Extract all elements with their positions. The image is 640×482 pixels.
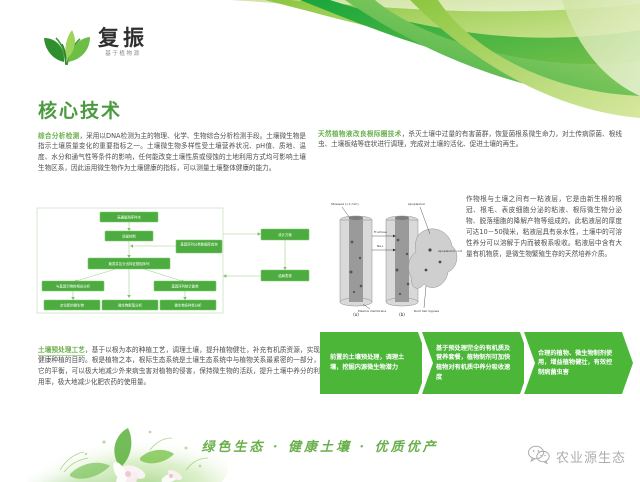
pretreatment-section: 土壤预处理工艺，基于以根为本的种植工艺，调理土壤，提升植物健壮，补充有机质资源，… bbox=[38, 338, 320, 394]
root-label-1: Apoplasmic bbox=[408, 202, 426, 206]
analysis-lead: 综合分析检测 bbox=[38, 132, 80, 140]
brand-wordmark: 复振 基于植物源 bbox=[98, 28, 148, 58]
root-label-3: Na+ bbox=[377, 244, 384, 248]
pretreatment-lead: 土壤预处理工艺 bbox=[38, 346, 85, 356]
wechat-icon bbox=[528, 445, 550, 468]
chevron-step-3: 合理的植物、微生物制剂使用，增益植物健壮，有效控制病菌虫害 bbox=[524, 332, 622, 394]
rhizosphere-lead: 天然植物液改良根际圈技术 bbox=[318, 130, 402, 138]
decorative-swirl-graphic bbox=[170, 0, 640, 120]
root-label-5: Plasma membrane bbox=[358, 309, 386, 313]
chevron-step-2: 基于预处理完全的有机质及营养套餐，植物制剂可加快植物对有机质中养分吸收速度 bbox=[422, 332, 520, 394]
analysis-flowchart: .bx{fill:#4dac3f;stroke:#7ec86a;stroke-w… bbox=[36, 196, 318, 314]
brand-name: 复振 bbox=[98, 28, 148, 49]
chevron-step-1-label: 前置的土壤预处理，调理土壤，挖掘内源微生物潜力 bbox=[320, 353, 418, 372]
poster-canvas: 复振 基于植物源 核心技术 综合分析检测，采用以DNA检测为主的物理、化学、生物… bbox=[0, 0, 640, 482]
wechat-account-badge: 农业源生态 bbox=[528, 445, 626, 468]
flow-node-n1: 高通量测序样本 bbox=[117, 215, 141, 220]
root-note-paragraph: 作物根与土壤之间有一粘液层，它是由新生根的根冠、根毛、表皮细胞分泌的粘液、根际微… bbox=[466, 194, 622, 260]
flow-node-n7: 定位新的微生物 bbox=[60, 303, 84, 308]
root-panel-b: (b) bbox=[399, 312, 405, 317]
flow-node-n6: 基因序列统计聚类 bbox=[171, 284, 199, 289]
analysis-paragraph: 综合分析检测，采用以DNA检测为主的物理、化学、生物综合分析检测手段。土壤微生物… bbox=[38, 131, 306, 174]
root-label-0: Stressed (<1 mm) bbox=[331, 202, 359, 206]
leaf-sprout-icon bbox=[40, 18, 92, 68]
root-label-4: Apoplasmic cortex bbox=[438, 249, 462, 253]
rhizosphere-section: 天然植物液改良根际圈技术，杀灭土壤中过量的有害菌群，恢复菌根系微生命力，对土传病… bbox=[318, 122, 622, 157]
flow-node-n4: 聚类并区分出特征基因序列 bbox=[109, 261, 150, 266]
wechat-account-name: 农业源生态 bbox=[556, 447, 626, 466]
flow-node-n10: 设计方案 bbox=[278, 232, 292, 237]
root-cross-section-figure: .cyl{fill:#d9d9d9;stroke:#8a8a8a;stroke-… bbox=[330, 192, 462, 324]
flow-node-n9: 微生物多样性分析 bbox=[174, 303, 202, 308]
page-title: 核心技术 bbox=[38, 96, 122, 123]
flow-node-n11: 结局表现 bbox=[278, 273, 292, 278]
root-label-2: Fructose bbox=[374, 230, 387, 234]
brand-logo: 复振 基于植物源 bbox=[40, 18, 148, 68]
process-chevron-group: 前置的土壤预处理，调理土壤，挖掘内源微生物潜力 基于预处理完全的有机质及营养套餐… bbox=[320, 332, 622, 394]
root-label-6: Root hair bypass bbox=[414, 309, 439, 313]
chevron-step-2-label: 基于预处理完全的有机质及营养套餐，植物制剂可加快植物对有机质中养分吸收速度 bbox=[422, 344, 520, 382]
flow-node-n3: 基因序列分类数据库查询 bbox=[180, 241, 218, 246]
pretreatment-paragraph: 土壤预处理工艺，基于以根为本的种植工艺，调理土壤，提升植物健壮，补充有机质资源，… bbox=[38, 345, 320, 388]
rhizosphere-paragraph: 天然植物液改良根际圈技术，杀灭土壤中过量的有害菌群，恢复菌根系微生命力，对土传病… bbox=[318, 129, 622, 150]
flow-node-n2: 质量控制 bbox=[122, 234, 136, 239]
flow-node-n8: 微生物群落分析 bbox=[118, 303, 142, 308]
brand-tagline: 基于植物源 bbox=[105, 52, 141, 58]
chevron-step-1: 前置的土壤预处理，调理土壤，挖掘内源微生物潜力 bbox=[320, 332, 418, 394]
analysis-section: 综合分析检测，采用以DNA检测为主的物理、化学、生物综合分析检测手段。土壤微生物… bbox=[38, 124, 306, 180]
flow-node-n5: 与基因引物的相关分析 bbox=[56, 284, 91, 289]
chevron-step-3-label: 合理的植物、微生物制剂使用，增益植物健壮，有效控制病菌虫害 bbox=[524, 349, 622, 378]
